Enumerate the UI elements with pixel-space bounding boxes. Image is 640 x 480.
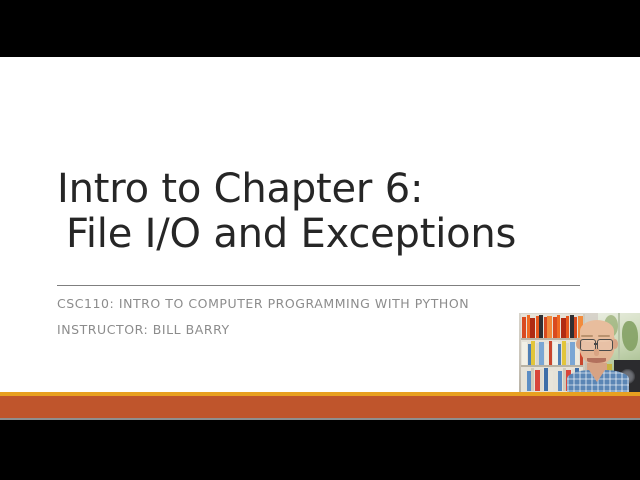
photo-person-nose [594,349,599,356]
letterbox-bottom [0,420,640,480]
photo-book-row-top [522,315,582,338]
photo-foliage-lower [622,321,638,351]
title-line-1: Intro to Chapter 6: [57,167,597,212]
title-divider-rule [57,285,580,286]
slide-subtitle: CSC110: INTRO TO COMPUTER PROGRAMMING WI… [57,291,597,343]
photo-person-brow-right [598,335,610,337]
title-line-2: File I/O and Exceptions [57,212,597,257]
presentation-slide: Intro to Chapter 6: File I/O and Excepti… [0,57,640,420]
video-frame: Intro to Chapter 6: File I/O and Excepti… [0,0,640,480]
photo-person-glasses-right [597,339,613,351]
photo-person-glasses-bridge [594,343,597,345]
slide-title: Intro to Chapter 6: File I/O and Excepti… [57,167,597,257]
accent-bar-thick [0,396,640,418]
instructor-photo-image [519,313,640,392]
instructor-line: INSTRUCTOR: BILL BARRY [57,317,597,343]
letterbox-top [0,0,640,57]
instructor-photo [519,313,640,392]
photo-person-brow-left [581,335,593,337]
course-line: CSC110: INTRO TO COMPUTER PROGRAMMING WI… [57,291,597,317]
photo-book-row-middle [522,340,582,365]
